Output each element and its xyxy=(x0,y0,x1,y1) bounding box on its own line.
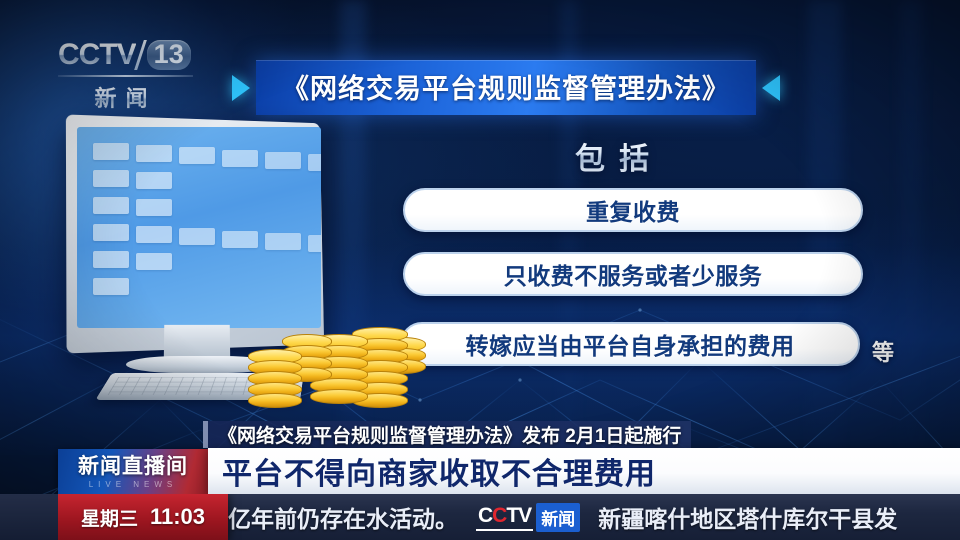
ticker-datetime: 星期三 11:03 xyxy=(58,494,228,540)
program-name-zh: 新闻直播间 xyxy=(78,456,188,477)
list-item-label: 转嫁应当由平台自身承担的费用 xyxy=(466,327,795,361)
coin xyxy=(248,393,302,408)
ticker-left-cap xyxy=(0,494,58,540)
screen-block xyxy=(93,143,129,160)
screen-block xyxy=(136,172,172,189)
channel-logo: CCTV 13 新闻 xyxy=(58,38,193,108)
screen-block xyxy=(222,150,258,167)
ticker-text-2: 新疆喀什地区塔什库尔干县发 xyxy=(598,500,897,534)
coin xyxy=(310,389,368,404)
screen-block xyxy=(222,231,258,248)
ticker-text-1: 亿年前仍存在水活动。 xyxy=(228,500,458,534)
list-item: 重复收费 xyxy=(403,188,863,232)
list-item: 转嫁应当由平台自身承担的费用 xyxy=(400,322,860,366)
triangle-right-icon xyxy=(232,75,250,101)
coin-stack xyxy=(248,347,302,408)
screen-block xyxy=(93,170,129,187)
cctv-news-logo-icon: CCTV 新闻 xyxy=(476,503,580,532)
screen-block xyxy=(179,147,215,164)
screen-block xyxy=(93,278,129,295)
title-banner: 《网络交易平台规则监督管理办法》 xyxy=(232,60,780,115)
screen-block xyxy=(265,233,301,250)
program-badge: 新闻直播间 LIVE NEWS xyxy=(58,449,208,495)
screen-block xyxy=(93,197,129,214)
channel-subtitle: 新闻 xyxy=(58,81,193,113)
section-heading: 包括 xyxy=(575,134,663,178)
triangle-left-icon xyxy=(762,75,780,101)
banner-title-text: 《网络交易平台规则监督管理办法》 xyxy=(282,67,730,106)
screen-block xyxy=(179,228,215,245)
list-item-label: 只收费不服务或者少服务 xyxy=(504,257,763,291)
broadcast-screenshot: CCTV 13 新闻 《网络交易平台规则监督管理办法》 包括 重复收费 只收费不… xyxy=(0,0,960,540)
news-ticker: 亿年前仍存在水活动。 CCTV 新闻 新疆喀什地区塔什库尔干县发 星期三 11:… xyxy=(0,494,960,540)
etcetera-label: 等 xyxy=(872,335,894,367)
screen-block xyxy=(136,253,172,270)
program-name-en: LIVE NEWS xyxy=(89,480,178,489)
headline-text: 平台不得向商家收取不合理费用 xyxy=(222,449,656,493)
channel-network-text: CCTV xyxy=(58,40,136,70)
screen-block xyxy=(93,251,129,268)
lower-third-subtitle: 《网络交易平台规则监督管理办法》发布 2月1日起施行 xyxy=(208,421,691,448)
clock-label: 11:03 xyxy=(150,504,205,530)
title-bar: 《网络交易平台规则监督管理办法》 xyxy=(256,60,756,115)
lower-third-headline: 平台不得向商家收取不合理费用 xyxy=(208,448,960,494)
cctv-wordmark: CCTV xyxy=(476,504,533,531)
channel-number: 13 xyxy=(147,40,191,70)
news-label: 新闻 xyxy=(536,503,580,532)
screen-block xyxy=(136,145,172,162)
screen-block xyxy=(265,152,301,169)
list-item: 只收费不服务或者少服务 xyxy=(403,252,863,296)
screen-block xyxy=(308,154,321,171)
coin-stacks-icon xyxy=(248,268,420,408)
screen-block xyxy=(93,224,129,241)
logo-underline xyxy=(58,75,193,77)
list-item-label: 重复收费 xyxy=(586,193,680,227)
screen-block xyxy=(136,199,172,216)
ticker-scroll-content: 亿年前仍存在水活动。 CCTV 新闻 新疆喀什地区塔什库尔干县发 xyxy=(228,494,897,540)
illustration-scene xyxy=(60,118,420,418)
weekday-label: 星期三 xyxy=(81,504,138,531)
subtitle-text: 《网络交易平台规则监督管理办法》发布 2月1日起施行 xyxy=(218,421,681,448)
screen-block xyxy=(136,226,172,243)
screen-block xyxy=(308,235,321,252)
